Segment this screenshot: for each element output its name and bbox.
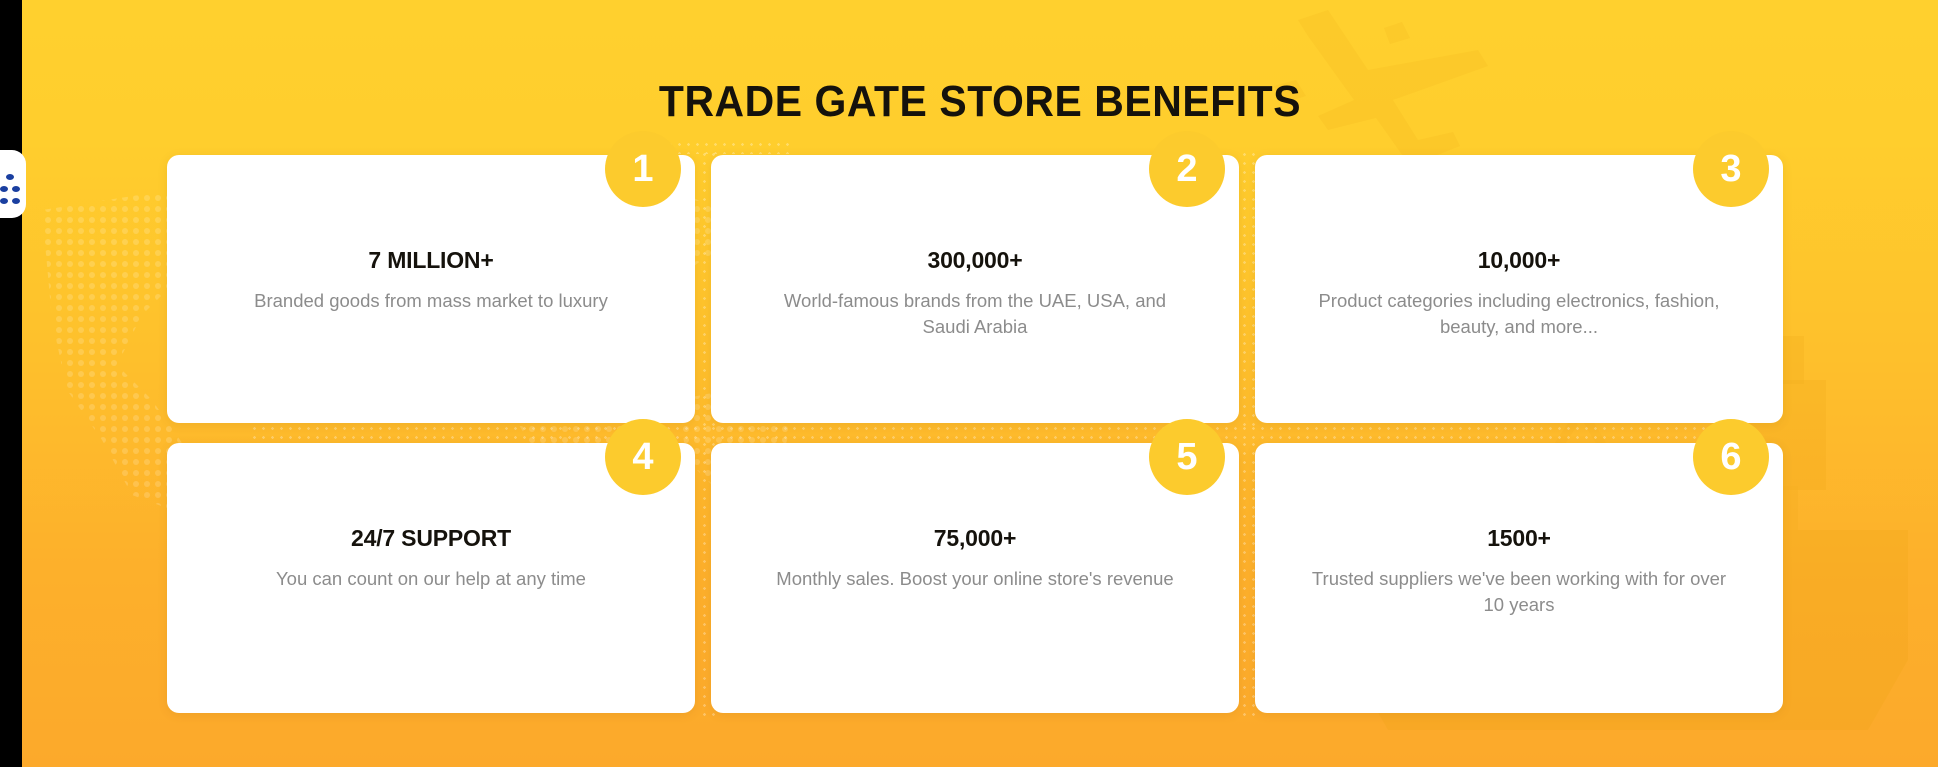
card-description: Monthly sales. Boost your online store's… (765, 566, 1185, 592)
card-number-badge: 6 (1693, 419, 1769, 495)
card-description: Trusted suppliers we've been working wit… (1304, 566, 1734, 617)
benefits-card-grid: 1 7 MILLION+ Branded goods from mass mar… (167, 155, 1779, 713)
partial-logo-badge-icon (0, 150, 26, 218)
benefit-card[interactable]: 2 300,000+ World-famous brands from the … (711, 155, 1239, 423)
card-description: Product categories including electronics… (1289, 288, 1749, 339)
card-description: Branded goods from mass market to luxury (221, 288, 641, 314)
card-title: 10,000+ (1281, 247, 1757, 274)
card-title: 24/7 SUPPORT (193, 525, 669, 552)
card-title: 7 MILLION+ (193, 247, 669, 274)
card-body: 1500+ Trusted suppliers we've been worki… (1281, 525, 1757, 617)
benefit-card[interactable]: 6 1500+ Trusted suppliers we've been wor… (1255, 443, 1783, 713)
benefits-section: TRADE GATE STORE BENEFITS 1 7 MILLION+ B… (0, 0, 1938, 767)
card-body: 300,000+ World-famous brands from the UA… (737, 247, 1213, 339)
card-body: 24/7 SUPPORT You can count on our help a… (193, 525, 669, 592)
card-number-badge: 2 (1149, 131, 1225, 207)
card-body: 75,000+ Monthly sales. Boost your online… (737, 525, 1213, 592)
benefit-card[interactable]: 4 24/7 SUPPORT You can count on our help… (167, 443, 695, 713)
card-title: 300,000+ (737, 247, 1213, 274)
card-description: You can count on our help at any time (196, 566, 666, 592)
card-number-badge: 5 (1149, 419, 1225, 495)
benefit-card[interactable]: 1 7 MILLION+ Branded goods from mass mar… (167, 155, 695, 423)
card-number-badge: 4 (605, 419, 681, 495)
card-body: 7 MILLION+ Branded goods from mass marke… (193, 247, 669, 314)
card-body: 10,000+ Product categories including ele… (1281, 247, 1757, 339)
card-number-badge: 3 (1693, 131, 1769, 207)
page-title: TRADE GATE STORE BENEFITS (89, 77, 1871, 127)
card-title: 1500+ (1281, 525, 1757, 552)
left-edge-strip (0, 0, 22, 767)
benefit-card[interactable]: 5 75,000+ Monthly sales. Boost your onli… (711, 443, 1239, 713)
benefit-card[interactable]: 3 10,000+ Product categories including e… (1255, 155, 1783, 423)
card-number-badge: 1 (605, 131, 681, 207)
card-title: 75,000+ (737, 525, 1213, 552)
card-description: World-famous brands from the UAE, USA, a… (765, 288, 1185, 339)
